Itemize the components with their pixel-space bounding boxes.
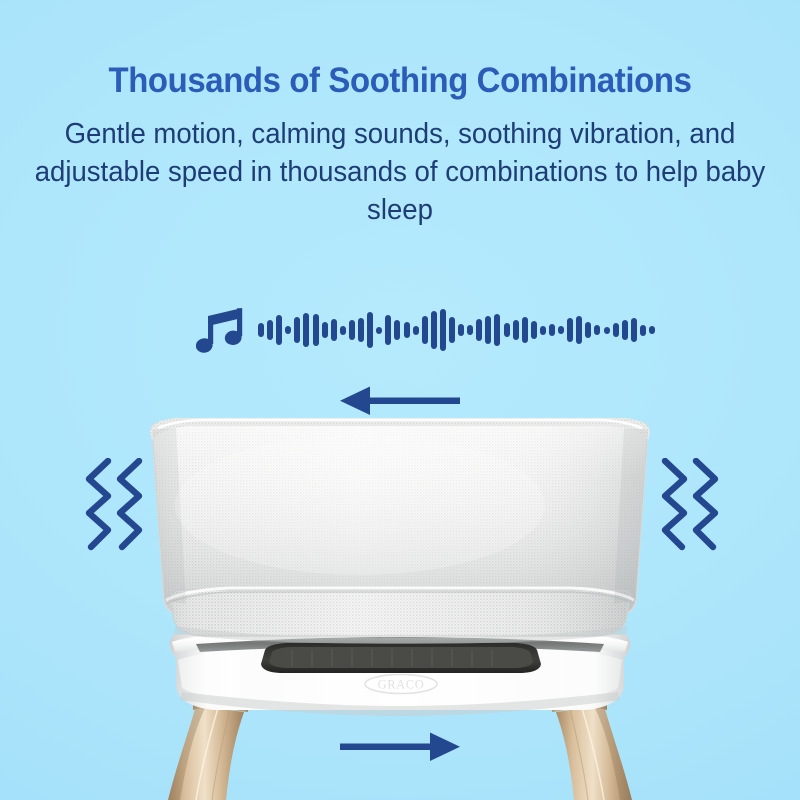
waveform-bar	[604, 327, 610, 334]
graco-logo: GRACO	[365, 675, 437, 694]
music-note-icon	[196, 306, 248, 361]
waveform-bar	[285, 326, 291, 334]
waveform-bar	[467, 325, 473, 335]
waveform-bar	[449, 317, 455, 343]
waveform-bar	[613, 323, 619, 337]
waveform-bar	[540, 326, 546, 335]
waveform-bar	[313, 314, 319, 346]
waveform-bar	[585, 322, 591, 338]
product-feature-graphic: Thousands of Soothing Combinations Gentl…	[0, 0, 800, 800]
waveform-bar	[394, 320, 400, 340]
page-subtitle: Gentle motion, calming sounds, soothing …	[20, 115, 780, 230]
waveform-bar	[485, 316, 491, 344]
waveform-bar	[331, 319, 337, 341]
waveform-bar	[558, 326, 564, 334]
sound-waveform-icon	[258, 304, 606, 356]
waveform-bar	[367, 312, 373, 348]
waveform-bar	[494, 314, 500, 346]
waveform-bar	[531, 321, 537, 339]
vibration-lines-icon	[82, 458, 146, 567]
waveform-bar	[376, 327, 382, 334]
bassinet-mesh-body	[140, 415, 660, 644]
waveform-bar	[549, 324, 555, 336]
waveform-bar	[267, 320, 273, 340]
waveform-bar	[622, 320, 628, 340]
waveform-bar	[458, 324, 464, 336]
arrow-right-icon	[340, 732, 460, 767]
bassinet-base: GRACO	[170, 630, 631, 716]
sound-indicator-group	[196, 304, 606, 360]
waveform-bar	[413, 326, 419, 335]
waveform-bar	[276, 315, 282, 345]
waveform-bar	[431, 311, 437, 349]
waveform-bar	[640, 325, 646, 336]
waveform-bar	[422, 316, 428, 344]
waveform-bar	[649, 326, 655, 334]
waveform-bar	[513, 320, 519, 340]
waveform-bar	[258, 323, 264, 337]
svg-text:GRACO: GRACO	[378, 678, 425, 692]
waveform-bar	[385, 315, 391, 345]
page-title: Thousands of Soothing Combinations	[24, 62, 776, 101]
arrow-left-icon	[340, 386, 460, 421]
waveform-bar	[504, 323, 510, 337]
waveform-bar	[440, 309, 446, 351]
vibration-lines-icon	[658, 458, 722, 567]
headline-block: Thousands of Soothing Combinations Gentl…	[0, 62, 800, 229]
waveform-bar	[567, 318, 573, 342]
waveform-bar	[322, 322, 328, 338]
waveform-bar	[594, 325, 600, 335]
waveform-bar	[522, 317, 528, 343]
waveform-bar	[358, 318, 364, 342]
waveform-bar	[476, 319, 482, 341]
waveform-bar	[349, 320, 355, 340]
waveform-bar	[340, 326, 346, 335]
waveform-bar	[631, 318, 637, 342]
waveform-bar	[404, 322, 410, 338]
waveform-bar	[294, 317, 300, 343]
waveform-bar	[303, 313, 309, 347]
waveform-bar	[576, 316, 582, 344]
